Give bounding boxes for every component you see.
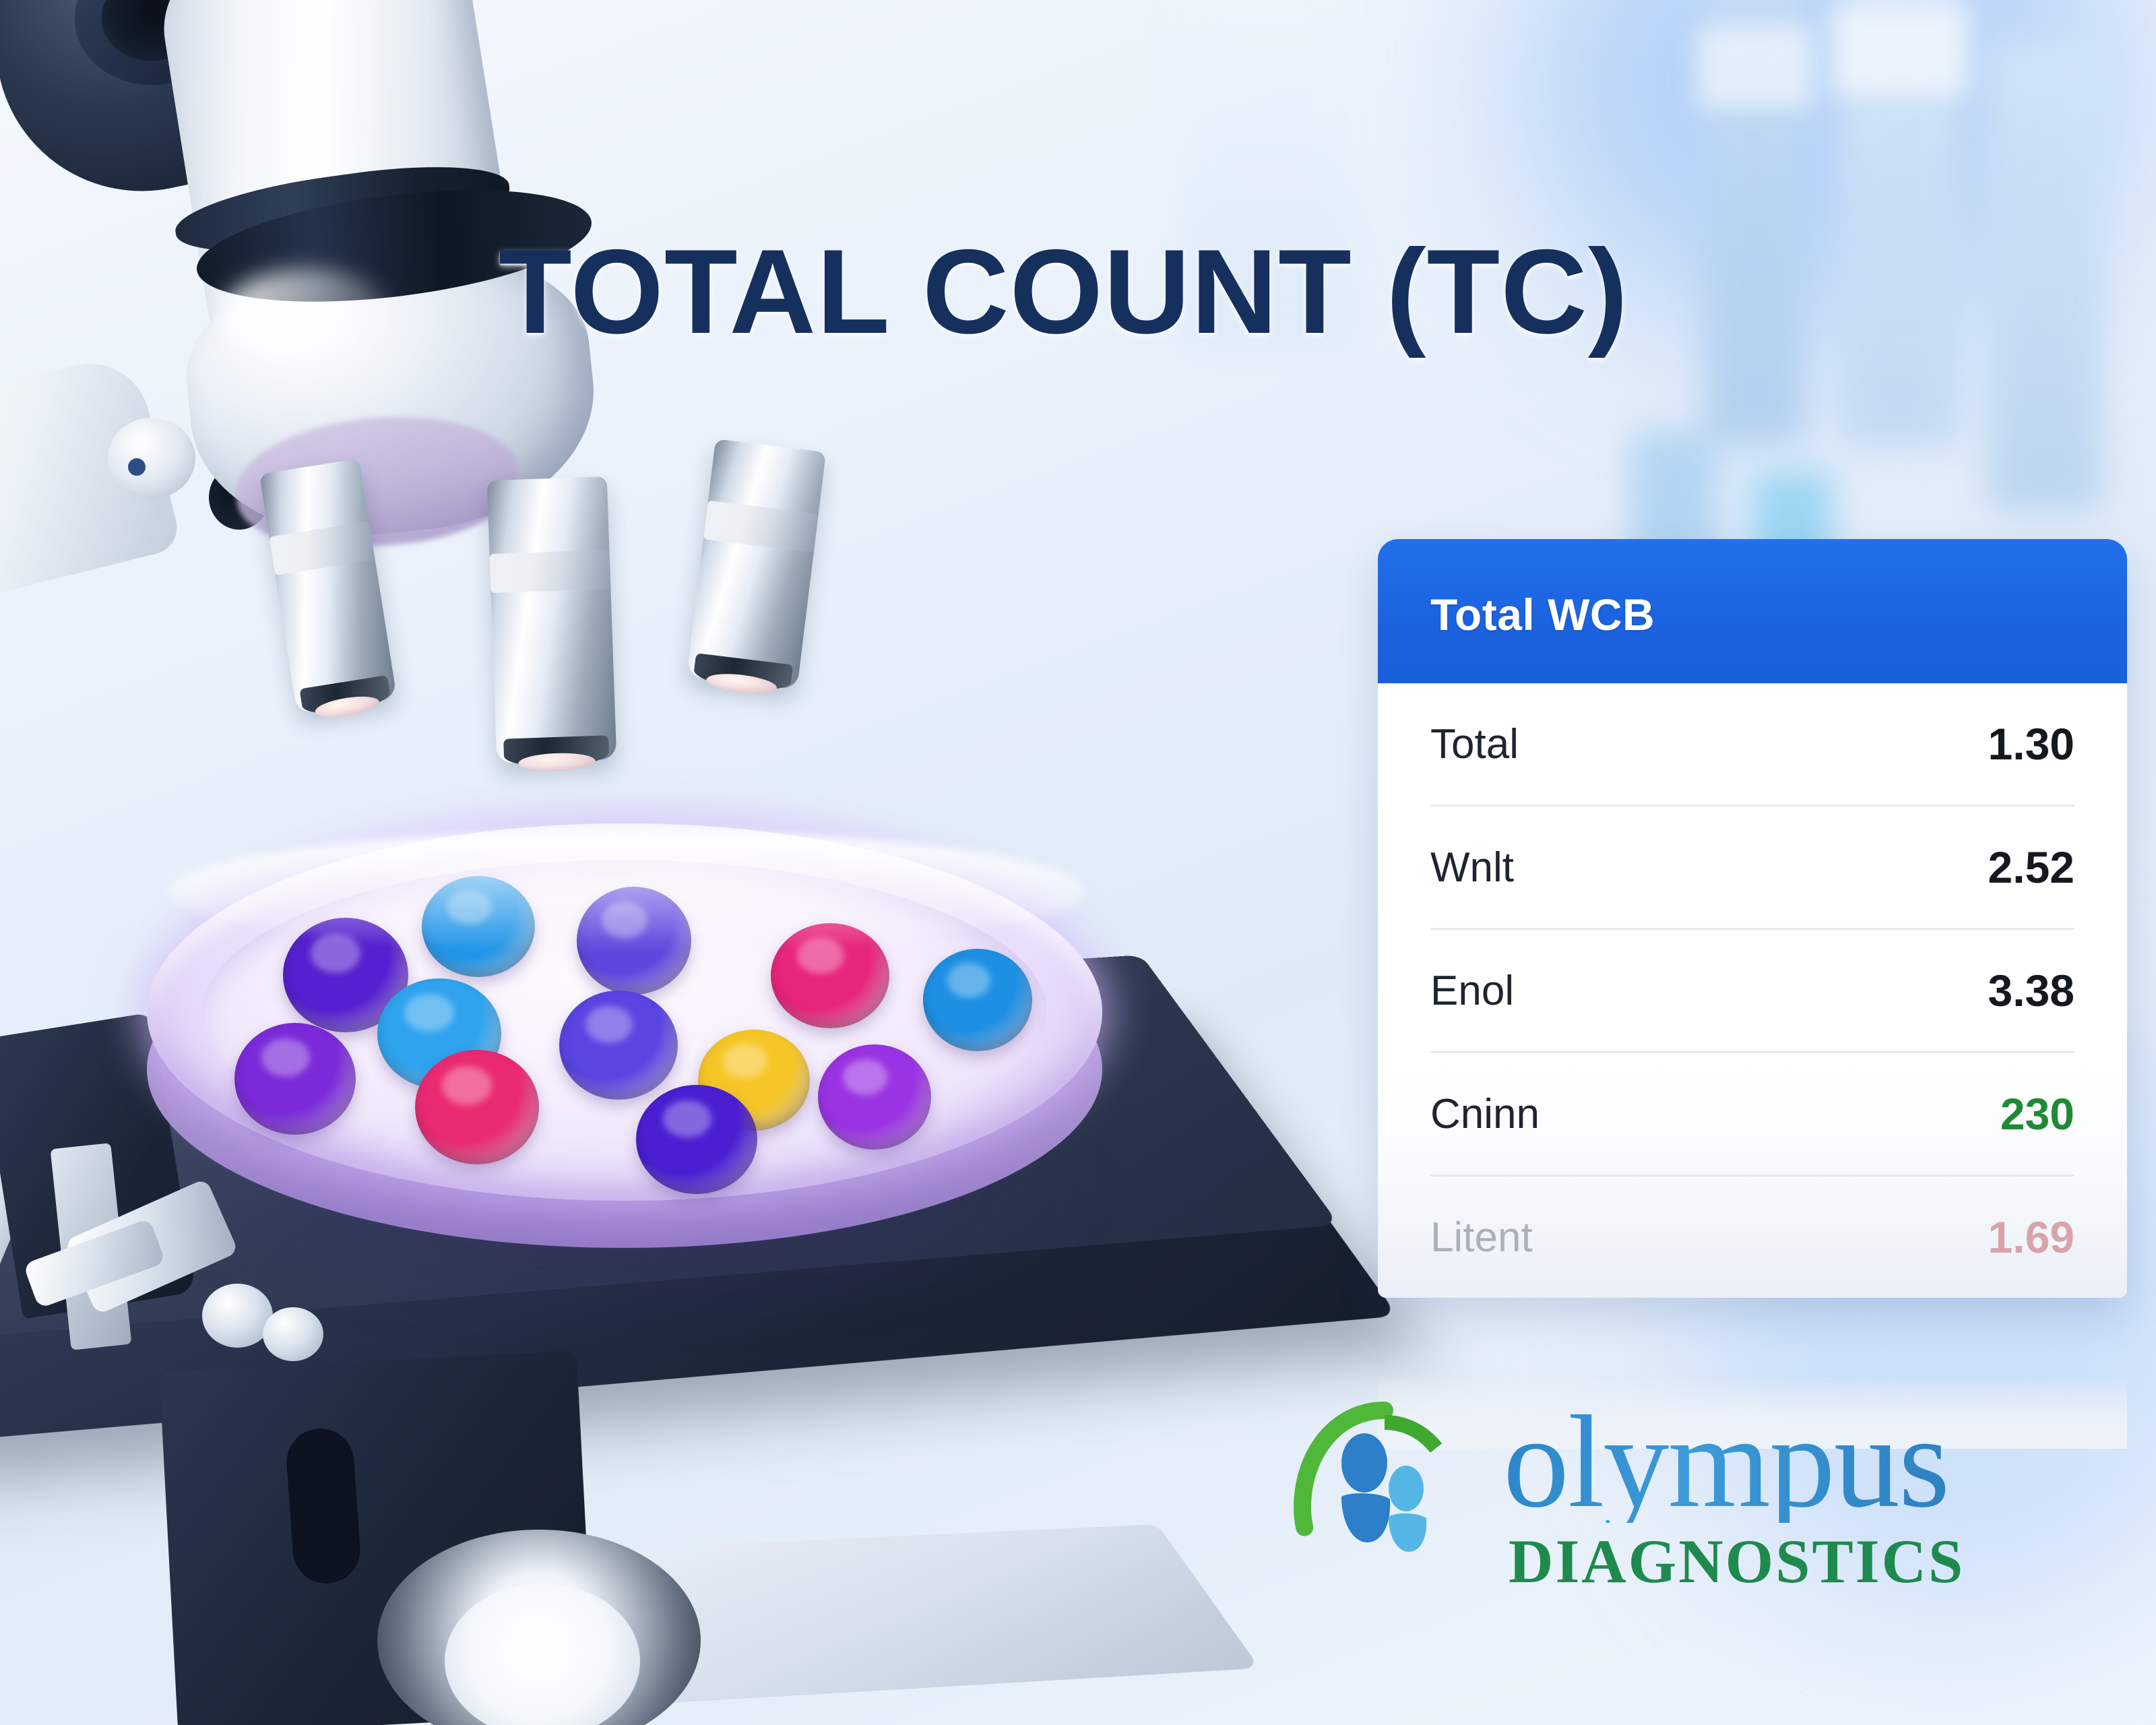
table-row: Litent1.69 xyxy=(1430,1177,2074,1298)
objective-collar xyxy=(703,501,819,553)
table-row: Wnlt2.52 xyxy=(1430,807,2074,930)
objective-lens-right xyxy=(687,439,826,689)
result-table: Total1.30Wnlt2.52Enol3.38Cninn230Litent1… xyxy=(1378,683,2127,1298)
bacterial-colony xyxy=(559,991,678,1100)
bacterial-colony xyxy=(818,1044,931,1150)
table-row: Cninn230 xyxy=(1430,1053,2074,1177)
brand-logo[interactable]: olympus DIAGNOSTICS xyxy=(1283,1398,1965,1600)
row-label: Enol xyxy=(1430,967,1514,1015)
page-title: TOTAL COUNT (TC) xyxy=(499,222,1628,360)
result-card: Total WCB Total1.30Wnlt2.52Enol3.38Cninn… xyxy=(1378,539,2127,1298)
objective-collar xyxy=(490,550,611,593)
bacterial-colony xyxy=(923,949,1032,1051)
row-value: 1.69 xyxy=(1988,1212,2074,1263)
objective-collar xyxy=(269,521,375,575)
petri-dish-rim-highlight xyxy=(168,830,1085,951)
base-slot xyxy=(284,1426,362,1586)
row-value: 2.52 xyxy=(1988,842,2074,893)
poster-canvas: TOTAL COUNT (TC) Total WCB Total1.30Wnlt… xyxy=(0,0,2156,1725)
result-card-title: Total WCB xyxy=(1430,589,2127,640)
table-row: Enol3.38 xyxy=(1430,930,2074,1053)
focus-knob-indicator xyxy=(128,458,146,476)
row-label: Total xyxy=(1430,720,1519,768)
row-value: 230 xyxy=(2000,1088,2074,1139)
row-value: 3.38 xyxy=(1988,965,2074,1016)
objective-lens-center xyxy=(487,476,617,763)
row-label: Wnlt xyxy=(1430,844,1514,891)
table-row: Total1.30 xyxy=(1430,683,2074,807)
brand-logo-text: olympus DIAGNOSTICS xyxy=(1503,1402,1965,1597)
focus-knob xyxy=(108,418,195,499)
bacterial-colony xyxy=(415,1050,539,1164)
bacterial-colony xyxy=(636,1085,757,1194)
row-value: 1.30 xyxy=(1988,718,2074,770)
bacterial-colony xyxy=(234,1023,356,1135)
row-label: Litent xyxy=(1430,1214,1533,1261)
olympus-emblem-icon xyxy=(1283,1398,1486,1600)
row-label: Cninn xyxy=(1430,1090,1540,1138)
turret-highlight xyxy=(222,270,391,364)
brand-subtitle: DIAGNOSTICS xyxy=(1509,1526,1965,1597)
result-card-header: Total WCB xyxy=(1378,539,2127,683)
brand-name: olympus xyxy=(1503,1402,1965,1523)
